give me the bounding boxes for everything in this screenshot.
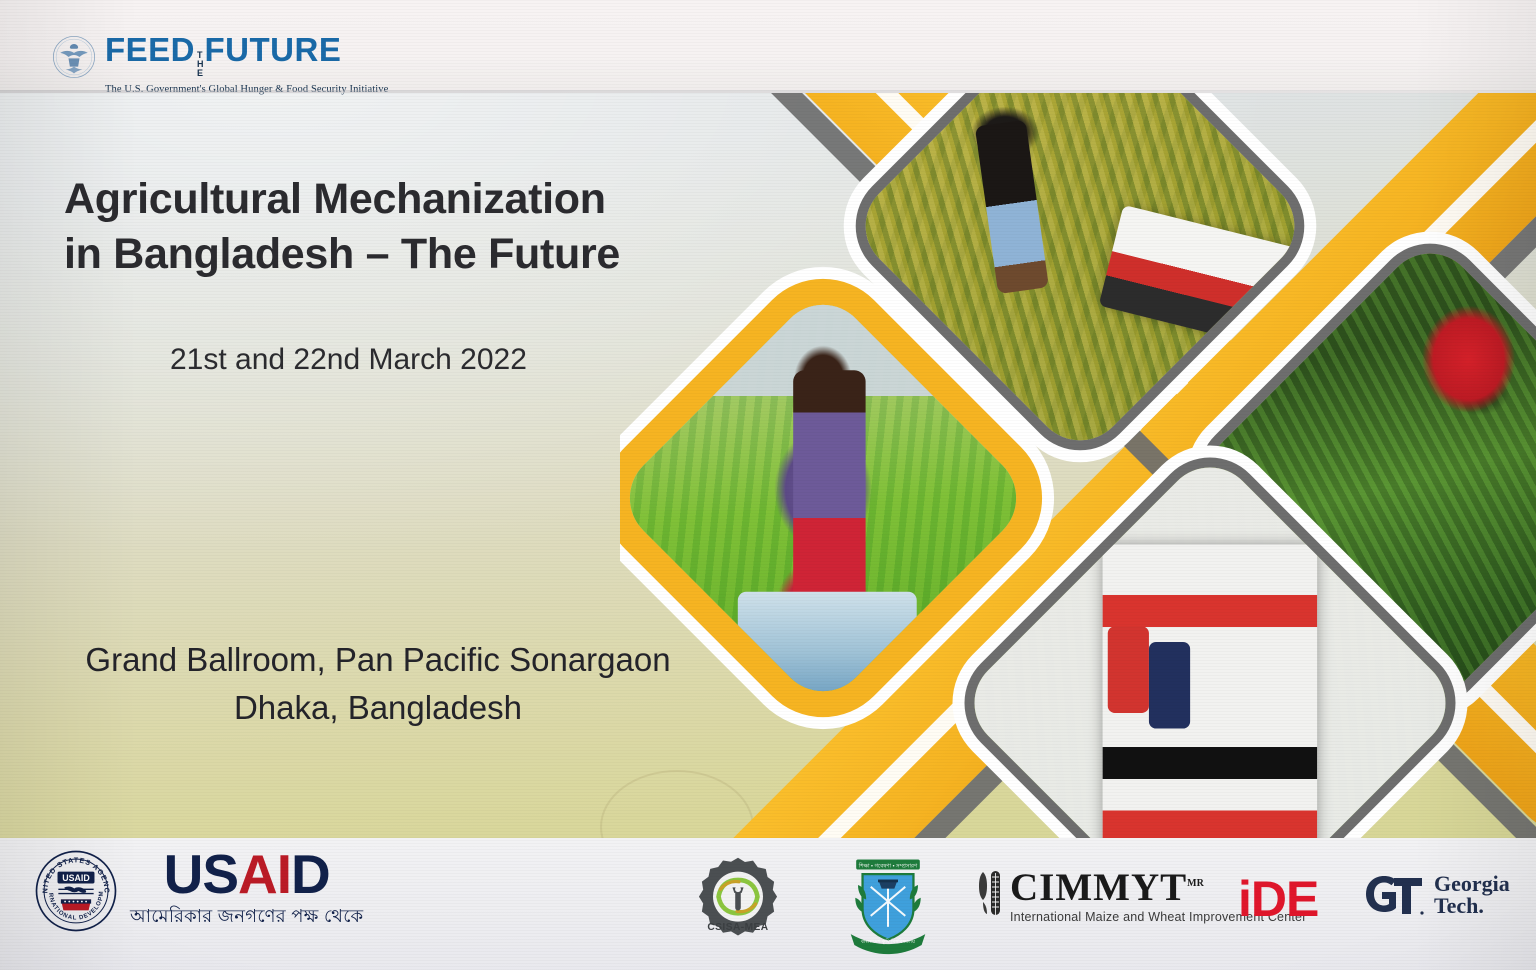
gt-word-tech: Tech. [1434,895,1510,917]
ftf-word-the: T H E [197,51,204,79]
ide-wordmark-de: DE [1251,871,1318,927]
csisa-mea-label: CSISA-MEA [707,922,768,933]
bau-banner-bottom: বাংলাদেশ কৃষি বিশ্ববিদ্যালয় [860,939,916,945]
logo-georgia-tech: Georgia Tech. [1362,872,1510,918]
gt-word-georgia: Georgia [1434,873,1510,895]
bau-banner-top: শিক্ষা • গবেষণা • সম্প্রসারণ [858,863,918,869]
usaid-wordmark: USAID [164,848,330,900]
event-date: 21st and 22nd March 2022 [170,340,730,379]
cimmyt-wordmark-text: CIMMYT [1010,866,1187,909]
reaper-operator [975,120,1050,294]
header-band: FEED T H E FUTURE The U.S. Government's … [0,0,1536,93]
title-line-1: Agricultural Mechanization [64,172,724,227]
logo-csisa-mea: CSISA-MEA [686,854,790,954]
svg-text:USAID: USAID [62,873,89,883]
logo-usaid: UNITED STATES AGENCY INTERNATIONAL DEVEL… [34,848,363,933]
logo-ide: iDE [1238,874,1318,924]
ftf-word-future: FUTURE [205,33,342,66]
page-title: Agricultural Mechanization in Bangladesh… [64,172,724,282]
us-great-seal-eagle-icon [52,35,96,79]
usaid-wordmark-i: I [277,843,291,905]
svg-text:UNITED STATES AGENCY: UNITED STATES AGENCY [34,849,111,894]
combine-operator-1 [1108,626,1149,713]
logo-bangladesh-agricultural-university: শিক্ষা • গবেষণা • সম্প্রসারণ বাংলাদেশ কৃ… [838,854,938,956]
usaid-wordmark-d: D [291,843,330,905]
usaid-wordmark-a: A [238,843,277,905]
title-line-2: in Bangladesh – The Future [64,227,724,282]
photo-collage-diamonds [620,93,1536,838]
usaid-seal-icon: UNITED STATES AGENCY INTERNATIONAL DEVEL… [34,849,118,933]
maize-wheat-mark-icon [978,868,1004,920]
usaid-wordmark-us: US [164,843,238,905]
ide-wordmark-i: i [1238,871,1251,927]
venue-line-2: Dhaka, Bangladesh [48,684,708,732]
ftf-word-feed: FEED [105,33,195,66]
gt-wordmark: Georgia Tech. [1434,873,1510,918]
venue-line-1: Grand Ballroom, Pan Pacific Sonargaon [48,636,708,684]
ftf-tagline: The U.S. Government's Global Hunger & Fo… [105,84,388,95]
combine-operator-2 [1149,642,1190,729]
cimmyt-trademark: MR [1187,878,1204,889]
footer-logo-band: UNITED STATES AGENCY INTERNATIONAL DEVEL… [0,838,1536,970]
event-venue: Grand Ballroom, Pan Pacific Sonargaon Dh… [48,636,708,732]
conference-banner: FEED T H E FUTURE The U.S. Government's … [0,0,1536,970]
gt-monogram-icon [1362,872,1424,918]
usaid-tagline-bengali: আমেরিকার জনগণের পক্ষ থেকে [130,902,363,933]
feed-the-future-logo: FEED T H E FUTURE The U.S. Government's … [52,33,388,95]
